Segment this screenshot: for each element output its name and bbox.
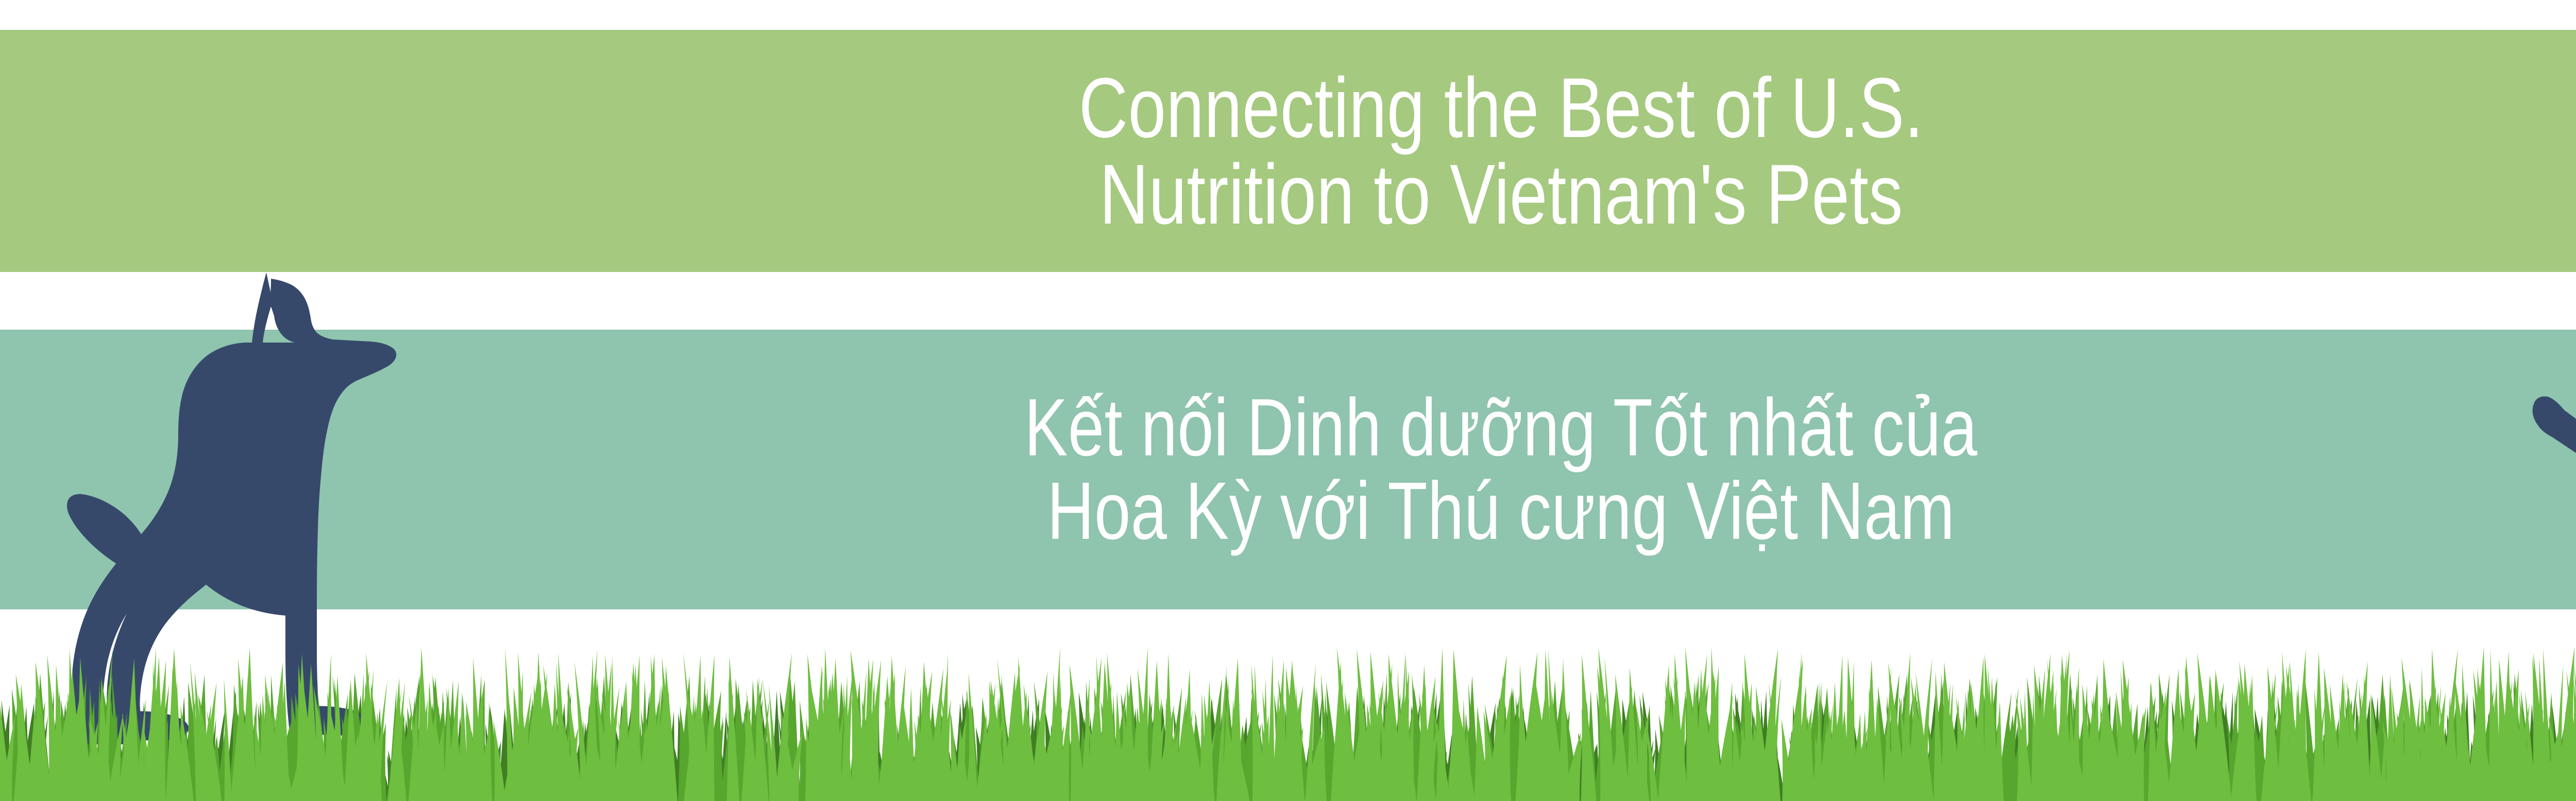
pet-nutrition-banner: Connecting the Best of U.S. Nutrition to…	[0, 0, 2576, 801]
english-headline: Connecting the Best of U.S. Nutrition to…	[1079, 64, 1924, 238]
english-headline-band: Connecting the Best of U.S. Nutrition to…	[0, 30, 2576, 272]
vietnamese-headline: Kết nối Dinh dưỡng Tốt nhất của Hoa Kỳ v…	[1024, 386, 1977, 552]
grass-front-layer	[0, 626, 2576, 801]
english-headline-line-2: Nutrition to Vietnam's Pets	[1079, 151, 1924, 237]
english-headline-line-1: Connecting the Best of U.S.	[1079, 64, 1924, 151]
vietnamese-headline-line-2: Hoa Kỳ với Thú cưng Việt Nam	[1024, 470, 1977, 553]
vietnamese-headline-line-1: Kết nối Dinh dưỡng Tốt nhất của	[1024, 386, 1977, 469]
